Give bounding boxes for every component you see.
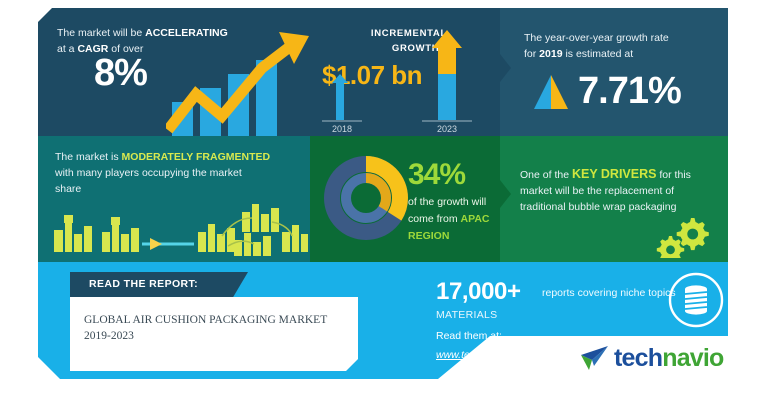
logo-text-navio: navio [662,344,723,372]
panel-cagr: The market will be ACCELERATINGat a CAGR… [38,8,310,136]
triangle-split-icon [532,73,572,111]
panel-footer-band: READ THE REPORT: GLOBAL AIR CUSHION PACK… [38,262,728,379]
panel-notch [500,180,511,208]
panel-apac-share: 34% of the growth will come from APAC RE… [310,136,500,262]
panel-incremental-growth: INCREMENTAL GROWTH▶ $1.07 bn 2018 2023 [310,8,500,136]
yoy-lead-text: The year-over-year growth ratefor 2019 i… [524,30,724,62]
read-the-report-tab[interactable]: READ THE REPORT: [70,272,248,299]
bar-chart-up-arrow-icon [166,30,310,136]
infographic-canvas: The market will be ACCELERATINGat a CAGR… [0,0,768,401]
panel-yoy-growth: The year-over-year growth ratefor 2019 i… [500,8,728,136]
fragmentation-lead-text: The market is MODERATELY FRAGMENTEDwith … [55,149,305,197]
apac-sub-text: of the growth will come from APAC REGION [408,194,500,245]
page-fold-icon [346,359,358,371]
materials-label: MATERIALS [436,309,497,321]
technavio-wordmark: technavio [614,344,724,373]
corner-fold [38,357,60,379]
incremental-year-end: 2023 [437,124,457,134]
report-card[interactable]: GLOBAL AIR CUSHION PACKAGING MARKET 2019… [70,297,358,371]
logo-text-tech: tech [614,344,662,372]
panel-key-drivers: One of the KEY DRIVERS for this market w… [500,136,728,262]
incremental-year-start: 2018 [332,124,352,134]
buildings-cluster-icon [46,200,308,258]
panel-notch [500,54,511,82]
two-arrow-bars-icon: 2018 2023 [310,8,500,136]
database-circle-icon [666,270,726,330]
cagr-value: 8% [94,52,147,95]
reports-count: 17,000+ [436,278,521,306]
reports-tagline: reports covering niche topics [542,287,676,299]
apac-percent: 34% [408,158,465,192]
drivers-lead-text: One of the KEY DRIVERS for this market w… [520,166,716,215]
report-title: GLOBAL AIR CUSHION PACKAGING MARKET 2019… [84,312,340,344]
paper-plane-icon [580,346,610,372]
donut-chart-icon [318,150,414,246]
technavio-logo: technavio [438,336,728,379]
read-the-report-label: READ THE REPORT: [89,278,198,290]
panel-fragmentation: The market is MODERATELY FRAGMENTEDwith … [38,136,310,262]
gears-icon [656,214,712,258]
yoy-value: 7.71% [578,70,681,113]
